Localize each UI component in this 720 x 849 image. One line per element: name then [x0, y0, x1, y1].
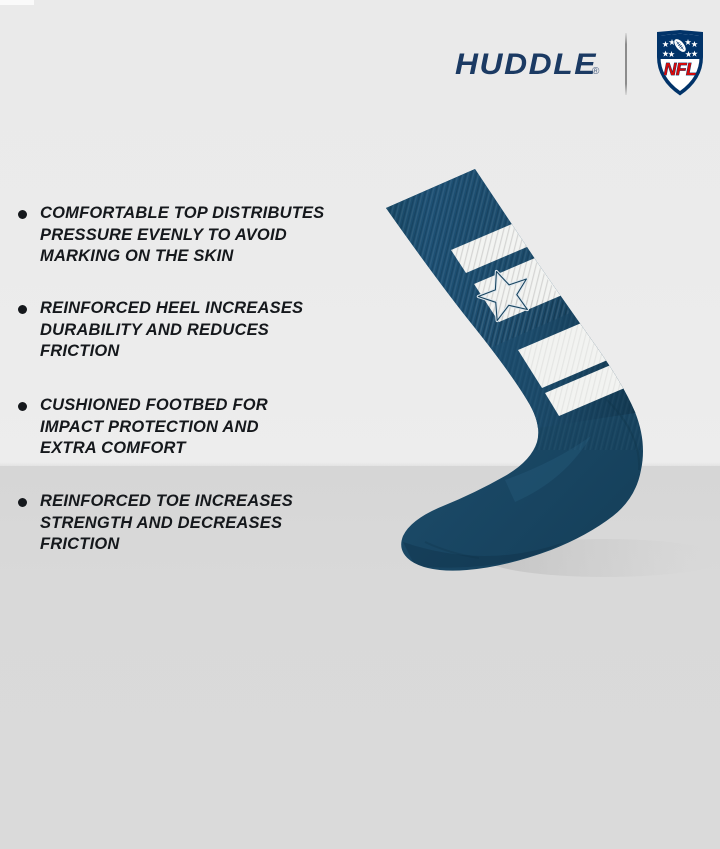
bullet-icon: [18, 498, 27, 507]
feature-list: COMFORTABLE TOP DISTRIBUTES PRESSURE EVE…: [0, 0, 360, 849]
nfl-letters: NFL: [664, 59, 697, 79]
feature-text: CUSHIONED FOOTBED FOR IMPACT PROTECTION …: [18, 395, 348, 460]
nfl-shield-icon: NFL: [655, 29, 705, 97]
bullet-icon: [18, 305, 27, 314]
feature-item-reinforced-toe: REINFORCED TOE INCREASES STRENGTH AND DE…: [18, 491, 348, 556]
feature-item-cushioned-footbed: CUSHIONED FOOTBED FOR IMPACT PROTECTION …: [18, 395, 348, 460]
bullet-icon: [18, 402, 27, 411]
huddle-brand-wordmark: HUDDLE: [455, 48, 597, 82]
feature-text: REINFORCED HEEL INCREASES DURABILITY AND…: [18, 298, 348, 363]
header-divider: [625, 33, 627, 95]
feature-item-reinforced-heel: REINFORCED HEEL INCREASES DURABILITY AND…: [18, 298, 348, 363]
feature-item-comfortable-top: COMFORTABLE TOP DISTRIBUTES PRESSURE EVE…: [18, 203, 348, 268]
registered-trademark-icon: ®: [592, 66, 599, 77]
feature-text: REINFORCED TOE INCREASES STRENGTH AND DE…: [18, 491, 348, 556]
product-image-crew-sock: [355, 150, 720, 620]
product-feature-image: HUDDLE ®: [0, 0, 720, 849]
feature-text: COMFORTABLE TOP DISTRIBUTES PRESSURE EVE…: [18, 203, 348, 268]
bullet-icon: [18, 210, 27, 219]
